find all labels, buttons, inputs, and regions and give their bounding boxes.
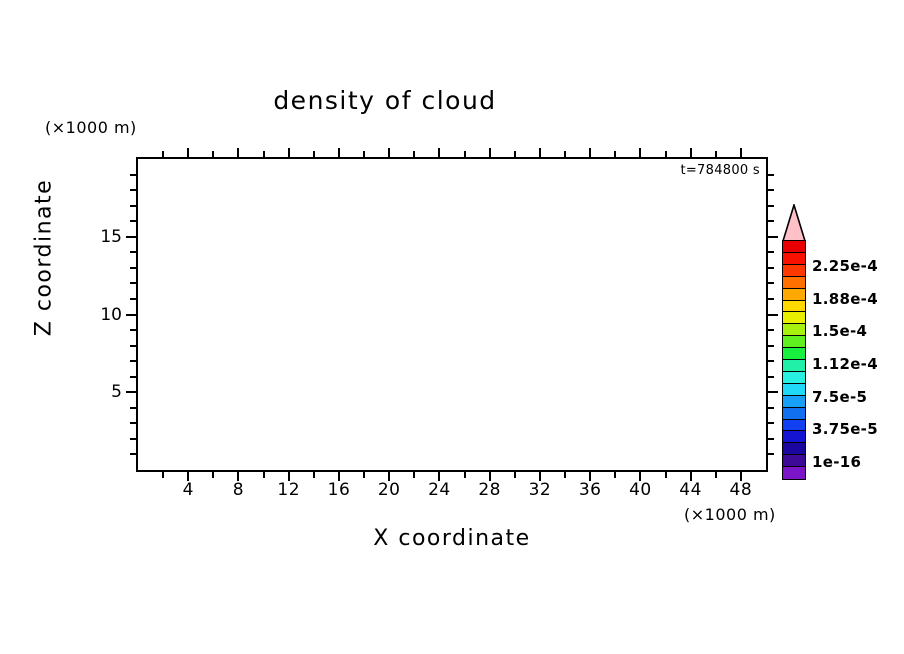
y-tick-label: 15 <box>96 227 122 247</box>
y-minor-tick-right <box>768 267 774 269</box>
y-minor-tick-left <box>130 453 136 455</box>
y-tick-right <box>768 314 778 316</box>
x-minor-tick-bottom <box>363 472 365 478</box>
x-tick-top <box>237 148 239 157</box>
x-minor-tick-top <box>313 151 315 157</box>
y-minor-tick-right <box>768 282 774 284</box>
y-minor-tick-right <box>768 220 774 222</box>
x-tick-label: 44 <box>679 480 702 500</box>
colorbar-tick-label: 1.88e-4 <box>812 290 878 308</box>
x-tick-label: 20 <box>378 480 401 500</box>
x-tick-top <box>489 148 491 157</box>
colorbar-tick-label: 3.75e-5 <box>812 420 878 438</box>
x-minor-tick-top <box>363 151 365 157</box>
x-minor-tick-top <box>715 151 717 157</box>
y-tick-left <box>126 236 136 238</box>
x-minor-tick-top <box>564 151 566 157</box>
x-minor-tick-bottom <box>413 472 415 478</box>
colorbar-over-arrow <box>782 204 806 242</box>
y-minor-tick-right <box>768 298 774 300</box>
x-minor-tick-bottom <box>313 472 315 478</box>
density-field-canvas <box>138 159 766 470</box>
y-minor-tick-left <box>130 329 136 331</box>
y-minor-tick-right <box>768 329 774 331</box>
x-tick-label: 8 <box>233 480 244 500</box>
x-axis-title: X coordinate <box>136 526 768 551</box>
x-tick-top <box>388 148 390 157</box>
x-tick-top <box>639 148 641 157</box>
y-minor-tick-left <box>130 360 136 362</box>
y-minor-tick-left <box>130 422 136 424</box>
colorbar-tick-label: 2.25e-4 <box>812 257 878 275</box>
x-tick-label: 28 <box>478 480 501 500</box>
x-tick-label: 40 <box>629 480 652 500</box>
y-minor-tick-right <box>768 376 774 378</box>
colorbar-tick-label: 7.5e-5 <box>812 388 867 406</box>
y-minor-tick-left <box>130 407 136 409</box>
x-tick-top <box>539 148 541 157</box>
y-minor-tick-right <box>768 251 774 253</box>
x-tick-top <box>338 148 340 157</box>
x-minor-tick-top <box>514 151 516 157</box>
y-tick-label: 5 <box>96 382 122 402</box>
y-minor-tick-left <box>130 251 136 253</box>
x-tick-top <box>187 148 189 157</box>
x-minor-tick-bottom <box>514 472 516 478</box>
timestamp-label: t=784800 s <box>680 163 760 178</box>
x-minor-tick-bottom <box>665 472 667 478</box>
x-minor-tick-bottom <box>212 472 214 478</box>
y-tick-right <box>768 391 778 393</box>
x-minor-tick-bottom <box>614 472 616 478</box>
y-minor-tick-right <box>768 174 774 176</box>
x-tick-top <box>740 148 742 157</box>
y-minor-tick-right <box>768 422 774 424</box>
y-tick-left <box>126 391 136 393</box>
x-minor-tick-top <box>614 151 616 157</box>
y-tick-label: 10 <box>96 305 122 325</box>
y-minor-tick-right <box>768 189 774 191</box>
x-tick-label: 12 <box>277 480 300 500</box>
contour-plot-figure: density of cloud (×1000 m) t=784800 s 48… <box>0 0 904 654</box>
x-tick-label: 16 <box>328 480 351 500</box>
y-minor-tick-left <box>130 189 136 191</box>
plot-area[interactable]: t=784800 s <box>136 157 768 472</box>
y-minor-tick-left <box>130 376 136 378</box>
x-tick-top <box>288 148 290 157</box>
y-minor-tick-right <box>768 453 774 455</box>
x-tick-label: 24 <box>428 480 451 500</box>
y-minor-tick-left <box>130 345 136 347</box>
y-minor-tick-right <box>768 345 774 347</box>
x-tick-label: 4 <box>183 480 194 500</box>
colorbar-tick-label: 1e-16 <box>812 453 861 471</box>
page-title: density of cloud <box>0 86 770 115</box>
x-minor-tick-top <box>464 151 466 157</box>
x-minor-tick-bottom <box>564 472 566 478</box>
colorbar-band <box>782 466 806 480</box>
y-minor-tick-left <box>130 220 136 222</box>
y-tick-left <box>126 314 136 316</box>
y-minor-tick-left <box>130 298 136 300</box>
x-tick-label: 32 <box>529 480 552 500</box>
y-tick-right <box>768 236 778 238</box>
x-minor-tick-top <box>263 151 265 157</box>
y-minor-tick-right <box>768 407 774 409</box>
x-minor-tick-top <box>162 151 164 157</box>
y-minor-tick-right <box>768 205 774 207</box>
x-tick-label: 48 <box>730 480 753 500</box>
x-tick-label: 36 <box>579 480 602 500</box>
x-minor-tick-bottom <box>263 472 265 478</box>
y-minor-tick-left <box>130 174 136 176</box>
y-minor-tick-left <box>130 267 136 269</box>
colorbar-tick-label: 1.5e-4 <box>812 322 867 340</box>
y-axis-title: Z coordinate <box>32 158 57 358</box>
y-minor-tick-right <box>768 360 774 362</box>
colorbar-tick-label: 1.12e-4 <box>812 355 878 373</box>
x-tick-top <box>438 148 440 157</box>
x-minor-tick-bottom <box>715 472 717 478</box>
x-axis-units-label: (×1000 m) <box>684 505 776 524</box>
x-minor-tick-top <box>212 151 214 157</box>
colorbar[interactable] <box>782 240 806 478</box>
x-tick-top <box>589 148 591 157</box>
y-axis-units-label: (×1000 m) <box>45 118 137 137</box>
y-minor-tick-right <box>768 438 774 440</box>
x-minor-tick-bottom <box>464 472 466 478</box>
y-minor-tick-left <box>130 205 136 207</box>
x-minor-tick-top <box>665 151 667 157</box>
x-minor-tick-bottom <box>162 472 164 478</box>
y-minor-tick-left <box>130 282 136 284</box>
x-minor-tick-top <box>413 151 415 157</box>
x-tick-top <box>690 148 692 157</box>
y-minor-tick-left <box>130 438 136 440</box>
